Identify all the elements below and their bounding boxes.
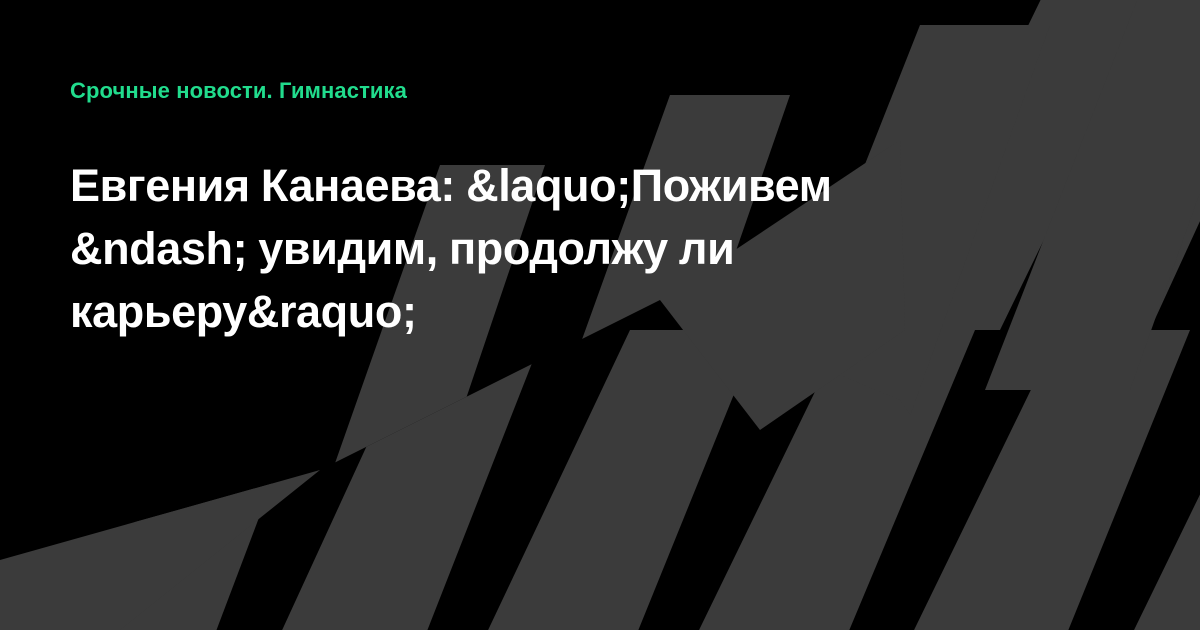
stripe-group-main [60,330,1200,630]
category-kicker: Срочные новости. Гимнастика [70,78,407,104]
social-share-card: Срочные новости. Гимнастика Евгения Кана… [0,0,1200,630]
page-title: Евгения Канаева: &laquo;Поживем &ndash; … [70,154,970,343]
stripe-shadow-facets [1060,0,1200,120]
